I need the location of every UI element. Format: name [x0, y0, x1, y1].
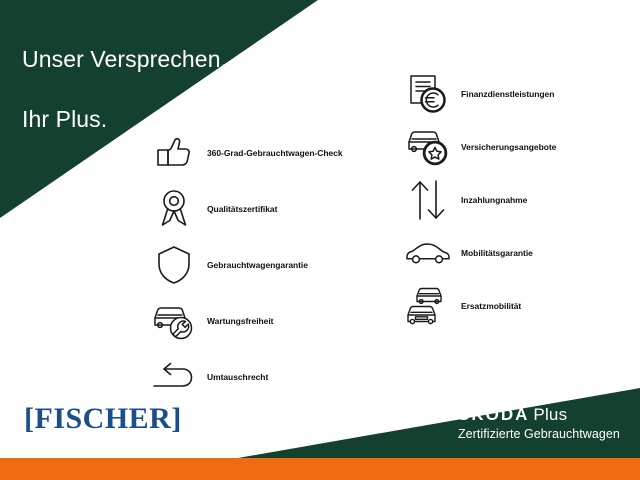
feature-item-warranty: Gebrauchtwagengarantie — [148, 238, 388, 292]
feature-item-insurance-offers: Versicherungsangebote — [402, 121, 640, 172]
car-star-icon — [402, 124, 454, 170]
feature-list-left: 360-Grad-Gebrauchtwagen-Check Qualitätsz… — [148, 126, 388, 406]
brand-lockup: ŠKODAPlus Zertifizierte Gebrauchtwagen — [458, 404, 620, 442]
brand-name-line: ŠKODAPlus — [458, 404, 620, 425]
orange-bottom-bar — [0, 458, 640, 480]
feature-item-financial-services: Finanzdienstleistungen — [402, 68, 640, 119]
feature-item-quality-certificate: Qualitätszertifikat — [148, 182, 388, 236]
car-wrench-icon — [148, 298, 200, 344]
dealer-logo: [FISCHER] — [24, 402, 182, 436]
brand-tagline: Zertifizierte Gebrauchtwagen — [458, 426, 620, 442]
feature-label: Versicherungsangebote — [454, 142, 556, 152]
feature-label: Mobilitätsgarantie — [454, 248, 533, 258]
feature-item-mobility-guarantee: Mobilitätsgarantie — [402, 227, 640, 278]
headline-line-1: Unser Versprechen. — [22, 44, 227, 74]
feature-list-right: Finanzdienstleistungen Versicherungsange… — [402, 68, 640, 333]
feature-item-replacement-mobility: Ersatzmobilität — [402, 280, 640, 331]
feature-item-maintenance-free: Wartungsfreiheit — [148, 294, 388, 348]
feature-label: 360-Grad-Gebrauchtwagen-Check — [200, 148, 343, 158]
feature-label: Inzahlungnahme — [454, 195, 527, 205]
feature-label: Umtauschrecht — [200, 372, 268, 382]
award-rosette-icon — [148, 186, 200, 232]
brand-marque: ŠKODA — [458, 405, 529, 424]
feature-label: Gebrauchtwagengarantie — [200, 260, 308, 270]
two-cars-icon — [402, 283, 454, 329]
feature-item-exchange-right: Umtauschrecht — [148, 350, 388, 404]
feature-label: Ersatzmobilität — [454, 301, 521, 311]
feature-item-trade-in: Inzahlungnahme — [402, 174, 640, 225]
u-turn-arrow-icon — [148, 354, 200, 400]
feature-label: Finanzdienstleistungen — [454, 89, 554, 99]
up-down-arrows-icon — [402, 177, 454, 223]
brand-sub-word: Plus — [529, 405, 567, 424]
car-side-icon — [402, 230, 454, 276]
feature-label: Qualitätszertifikat — [200, 204, 277, 214]
feature-item-360-check: 360-Grad-Gebrauchtwagen-Check — [148, 126, 388, 180]
promo-banner: Unser Versprechen. Ihr Plus. 360-Grad-Ge… — [0, 0, 640, 480]
feature-label: Wartungsfreiheit — [200, 316, 273, 326]
shield-icon — [148, 242, 200, 288]
document-euro-icon — [402, 71, 454, 117]
thumbs-up-icon — [148, 130, 200, 176]
